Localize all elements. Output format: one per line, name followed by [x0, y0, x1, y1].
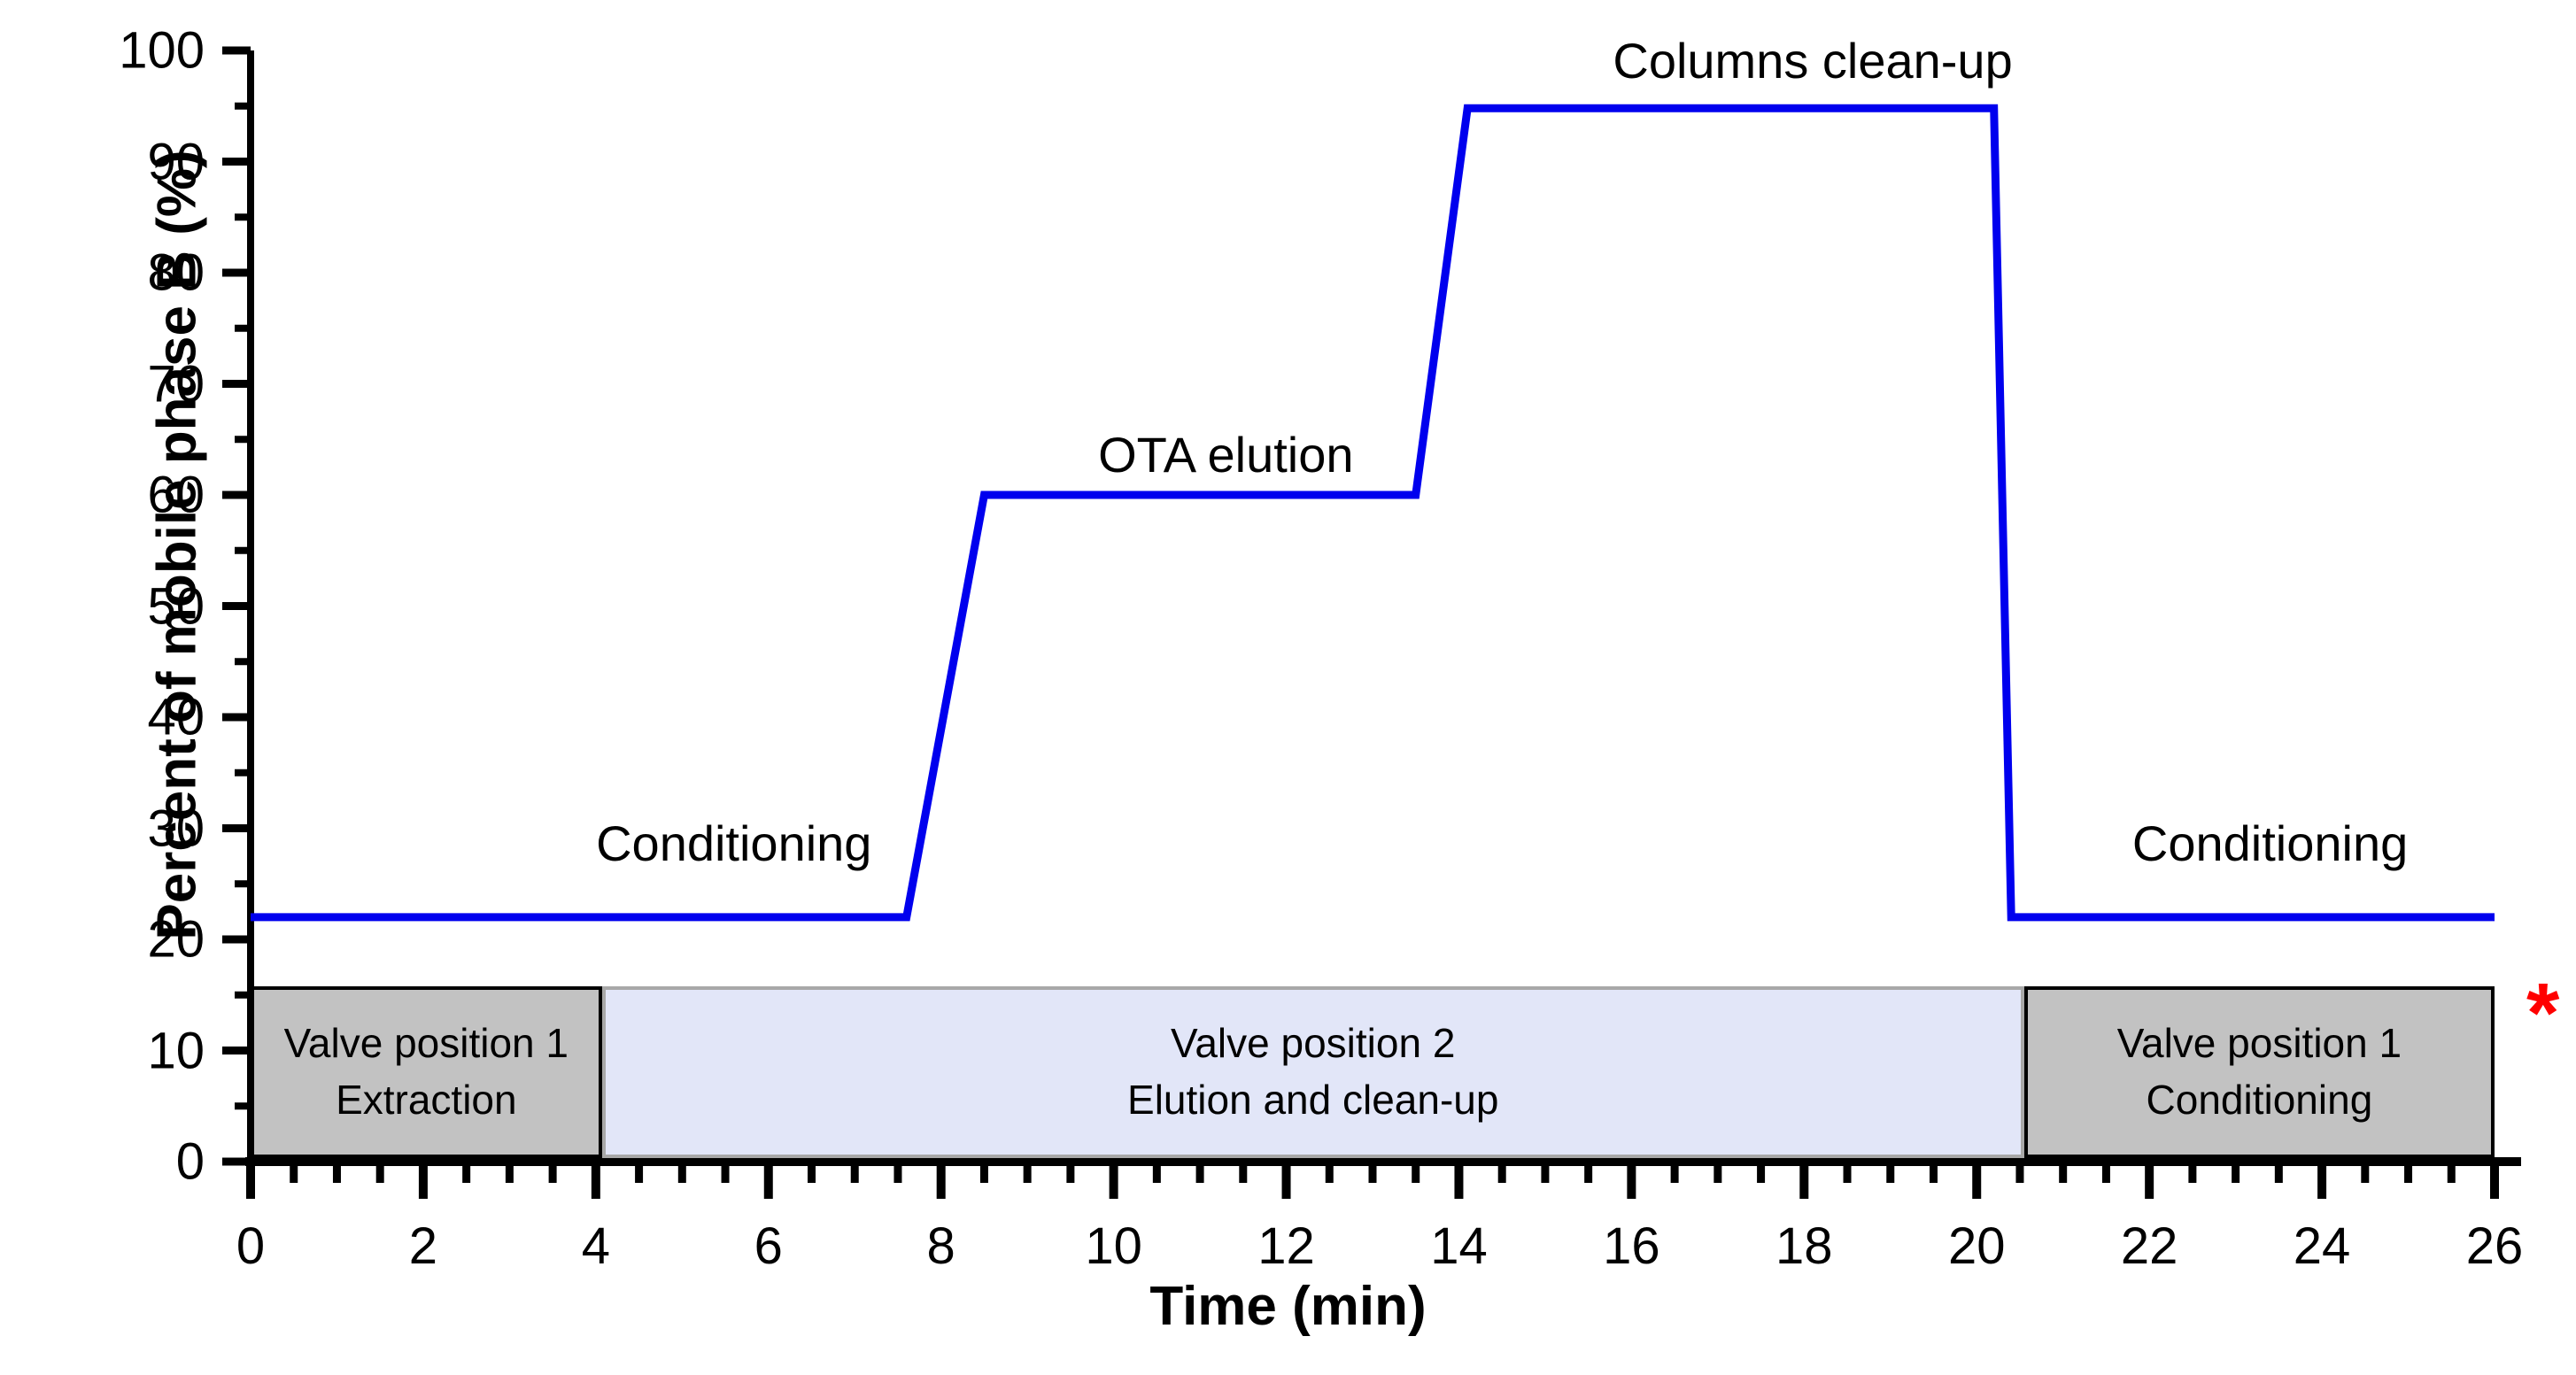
valve-band-subtitle: Conditioning — [2147, 1072, 2373, 1128]
x-tick-label: 8 — [870, 1217, 1012, 1276]
x-tick-label: 2 — [352, 1217, 494, 1276]
x-tick-label: 26 — [2424, 1217, 2565, 1276]
annotation-label: Conditioning — [596, 815, 871, 872]
annotation-label: Conditioning — [2132, 815, 2408, 872]
valve-band-title: Valve position 1 — [2117, 1016, 2402, 1071]
valve-band-3: Valve position 1Conditioning — [2024, 986, 2495, 1159]
y-tick-label: 100 — [27, 21, 205, 81]
annotation-label: Columns clean-up — [1613, 32, 2012, 89]
plot-svg — [0, 0, 2576, 1375]
data-line-1 — [251, 108, 2495, 917]
y-tick-label: 40 — [27, 688, 205, 747]
x-tick-label: 0 — [180, 1217, 321, 1276]
x-tick-label: 20 — [1906, 1217, 2047, 1276]
x-tick-label: 22 — [2078, 1217, 2220, 1276]
y-tick-label: 50 — [27, 576, 205, 636]
annotation-label: OTA elution — [1098, 426, 1353, 483]
x-tick-label: 24 — [2251, 1217, 2393, 1276]
y-tick-label: 10 — [27, 1021, 205, 1080]
valve-band-title: Valve position 2 — [1171, 1016, 1455, 1071]
x-tick-label: 4 — [525, 1217, 667, 1276]
valve-band-subtitle: Elution and clean-up — [1127, 1072, 1498, 1128]
y-tick-label: 60 — [27, 466, 205, 525]
valve-band-subtitle: Extraction — [336, 1072, 517, 1128]
x-axis-title: Time (min) — [0, 1275, 2576, 1338]
y-tick-label: 80 — [27, 243, 205, 303]
x-tick-label: 6 — [698, 1217, 839, 1276]
x-tick-label: 18 — [1733, 1217, 1875, 1276]
y-tick-label: 30 — [27, 799, 205, 858]
y-tick-label: 0 — [27, 1132, 205, 1192]
valve-band-title: Valve position 1 — [284, 1016, 569, 1071]
x-tick-label: 16 — [1560, 1217, 1702, 1276]
valve-band-1: Valve position 1Extraction — [251, 986, 602, 1159]
valve-band-2: Valve position 2Elution and clean-up — [602, 986, 2024, 1159]
x-tick-label: 10 — [1043, 1217, 1185, 1276]
x-tick-label: 14 — [1388, 1217, 1529, 1276]
y-tick-label: 70 — [27, 354, 205, 413]
footnote-asterisk-icon: * — [2526, 971, 2559, 1056]
y-tick-label: 20 — [27, 910, 205, 969]
x-tick-label: 12 — [1216, 1217, 1358, 1276]
y-tick-label: 90 — [27, 132, 205, 191]
chart-canvas: Percent of mobile phase B (%) Time (min)… — [0, 0, 2576, 1375]
